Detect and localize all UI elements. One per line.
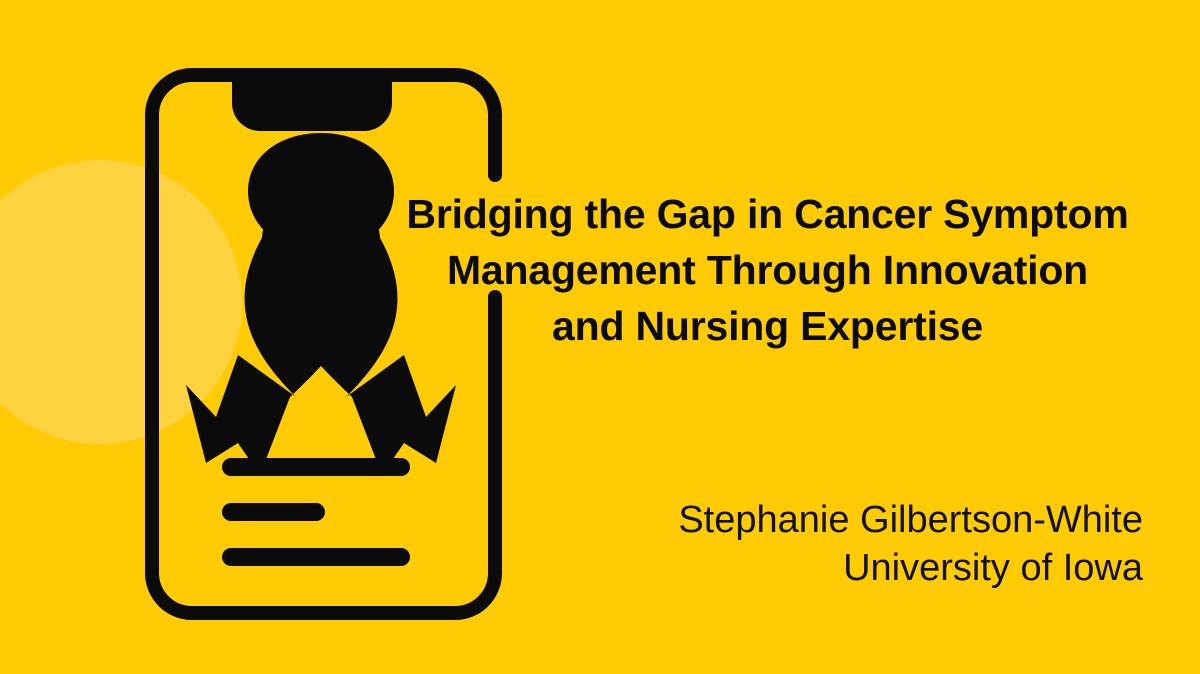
phone-notch-icon bbox=[232, 75, 392, 131]
title-line-1: Bridging the Gap in Cancer Symptom bbox=[395, 186, 1140, 242]
text-column: Bridging the Gap in Cancer Symptom Manag… bbox=[395, 0, 1155, 674]
presenter-affiliation: University of Iowa bbox=[395, 544, 1143, 592]
page-title: Bridging the Gap in Cancer Symptom Manag… bbox=[395, 186, 1140, 354]
title-line-3: and Nursing Expertise bbox=[395, 298, 1140, 354]
content-bar-short bbox=[222, 503, 325, 521]
content-bar-long-1 bbox=[222, 458, 410, 476]
content-bar-long-2 bbox=[222, 548, 410, 566]
content-bar-group bbox=[222, 458, 410, 566]
byline: Stephanie Gilbertson-White University of… bbox=[395, 496, 1143, 592]
presenter-name: Stephanie Gilbertson-White bbox=[395, 496, 1143, 544]
presentation-slide: Bridging the Gap in Cancer Symptom Manag… bbox=[0, 0, 1200, 674]
title-line-2: Management Through Innovation bbox=[395, 242, 1140, 298]
